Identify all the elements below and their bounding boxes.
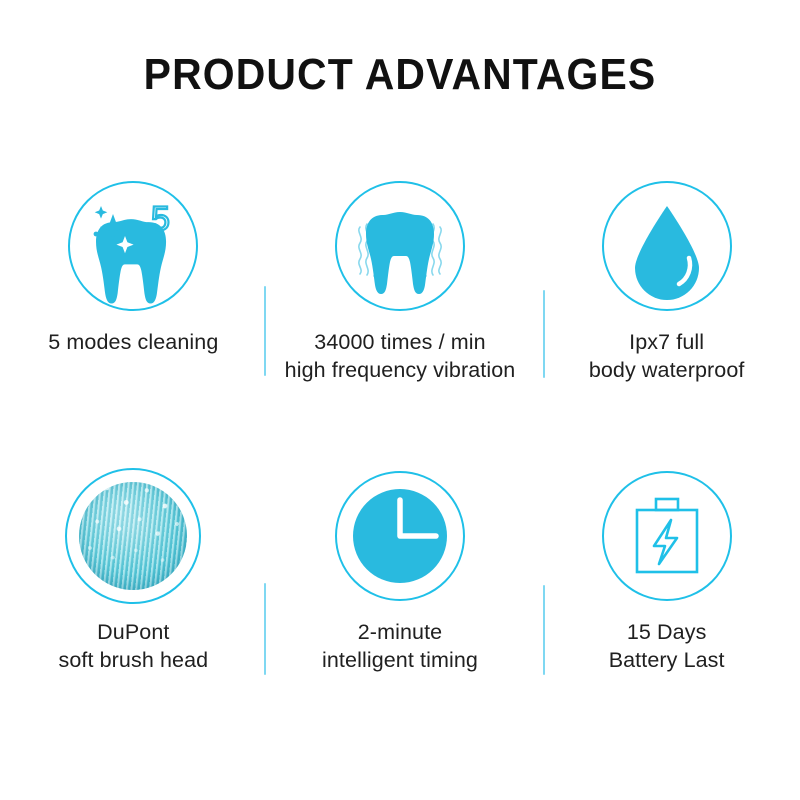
feature-cell-brush-head: DuPont soft brush head <box>0 450 267 740</box>
features-grid: 5 5 modes cleaning <box>0 160 800 740</box>
column-divider <box>543 290 545 378</box>
brush-head-bristles-icon <box>65 468 201 604</box>
caption-line-1: Ipx7 full <box>629 330 704 354</box>
product-advantages-page: PRODUCT ADVANTAGES 5 <box>0 0 800 800</box>
mode-count-badge: 5 <box>151 200 170 238</box>
caption-line-2: body waterproof <box>589 356 745 384</box>
feature-caption: 34000 times / min high frequency vibrati… <box>285 328 516 385</box>
battery-bolt-icon <box>599 468 735 604</box>
feature-caption: DuPont soft brush head <box>58 618 208 675</box>
caption-line-1: DuPont <box>97 620 169 644</box>
feature-cell-modes: 5 5 modes cleaning <box>0 160 267 450</box>
feature-cell-vibration: 34000 times / min high frequency vibrati… <box>267 160 534 450</box>
brush-head-shading <box>79 482 187 590</box>
caption-line-2: intelligent timing <box>322 646 478 674</box>
feature-cell-waterproof: Ipx7 full body waterproof <box>533 160 800 450</box>
caption-line-1: 5 modes cleaning <box>48 330 218 354</box>
clock-icon <box>332 468 468 604</box>
caption-line-1: 34000 times / min <box>314 330 485 354</box>
feature-caption: 15 Days Battery Last <box>609 618 725 675</box>
caption-line-2: high frequency vibration <box>285 356 516 384</box>
caption-line-2: Battery Last <box>609 646 725 674</box>
caption-line-2: soft brush head <box>58 646 208 674</box>
feature-caption: Ipx7 full body waterproof <box>589 328 745 385</box>
brush-head-photo <box>79 482 187 590</box>
tooth-vibration-icon <box>332 178 468 314</box>
tooth-sparkle-5-icon: 5 <box>65 178 201 314</box>
page-title: PRODUCT ADVANTAGES <box>28 50 772 100</box>
feature-caption: 2-minute intelligent timing <box>322 618 478 675</box>
column-divider <box>264 583 266 675</box>
feature-cell-battery: 15 Days Battery Last <box>533 450 800 740</box>
feature-caption: 5 modes cleaning <box>48 328 218 356</box>
feature-cell-timer: 2-minute intelligent timing <box>267 450 534 740</box>
caption-line-1: 2-minute <box>358 620 442 644</box>
column-divider <box>543 585 545 675</box>
brush-head-ring <box>65 468 201 604</box>
water-drop-icon <box>599 178 735 314</box>
column-divider <box>264 286 266 376</box>
caption-line-1: 15 Days <box>627 620 707 644</box>
